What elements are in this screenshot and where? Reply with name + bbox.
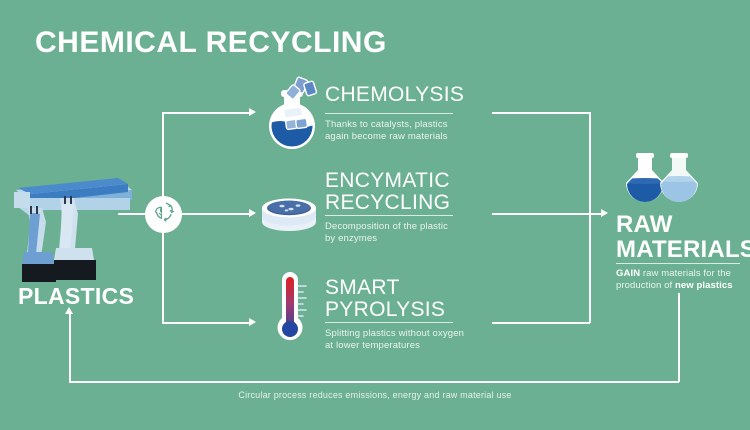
stage-2-description: Decomposition of the plastic by enzymes [325,221,475,245]
plastics-illustration [8,168,133,283]
page-title: CHEMICAL RECYCLING [35,28,387,58]
stage-3-divider [325,322,453,323]
arrow-to-raw-materials [601,209,608,217]
connector-hub-vertical [162,112,164,323]
stage-2-divider [325,215,453,216]
plastics-label: PLASTICS [18,283,134,310]
stage-1-divider [325,113,453,114]
stage-3-description: Splitting plastics without oxygen at low… [325,328,480,352]
connector-plastics-to-hub [118,213,148,215]
connector-return-up [69,314,71,382]
stage-2-title: ENCYMATIC RECYCLING [325,170,450,214]
stage-3-title: SMART PYROLYSIS [325,277,445,321]
footer-caption: Circular process reduces emissions, ener… [0,390,750,400]
raw-materials-divider [616,263,740,264]
connector-return-across [69,381,679,383]
arrow-branch-3 [249,318,256,326]
arrow-return-to-plastics [65,307,73,314]
raw-desc-part-0: GAIN [616,268,640,279]
connector-branch-1 [162,112,250,114]
round-bottom-flask-icon [262,76,324,152]
stage-1-title: CHEMOLYSIS [325,84,464,106]
raw-desc-part-2: new plastics [675,280,733,291]
raw-materials-description: GAIN raw materials for the production of… [616,268,746,292]
connector-return-down [678,293,680,382]
connector-branch-2 [180,213,250,215]
infographic-canvas: CHEMICAL RECYCLING [0,0,750,430]
connector-merge-vertical [589,112,591,323]
connector-merge-to-output [492,213,602,215]
two-flasks-icon [616,152,708,214]
raw-materials-title: RAW MATERIALS [616,212,750,262]
arrow-branch-2 [249,209,256,217]
thermometer-icon [268,272,312,346]
connector-branch-3 [162,322,250,324]
stage-1-description: Thanks to catalysts, plastics again beco… [325,119,470,143]
connector-merge-top [492,112,590,114]
petri-dish-icon [258,192,320,234]
arrow-branch-1 [249,108,256,116]
connector-merge-bottom [492,322,590,324]
